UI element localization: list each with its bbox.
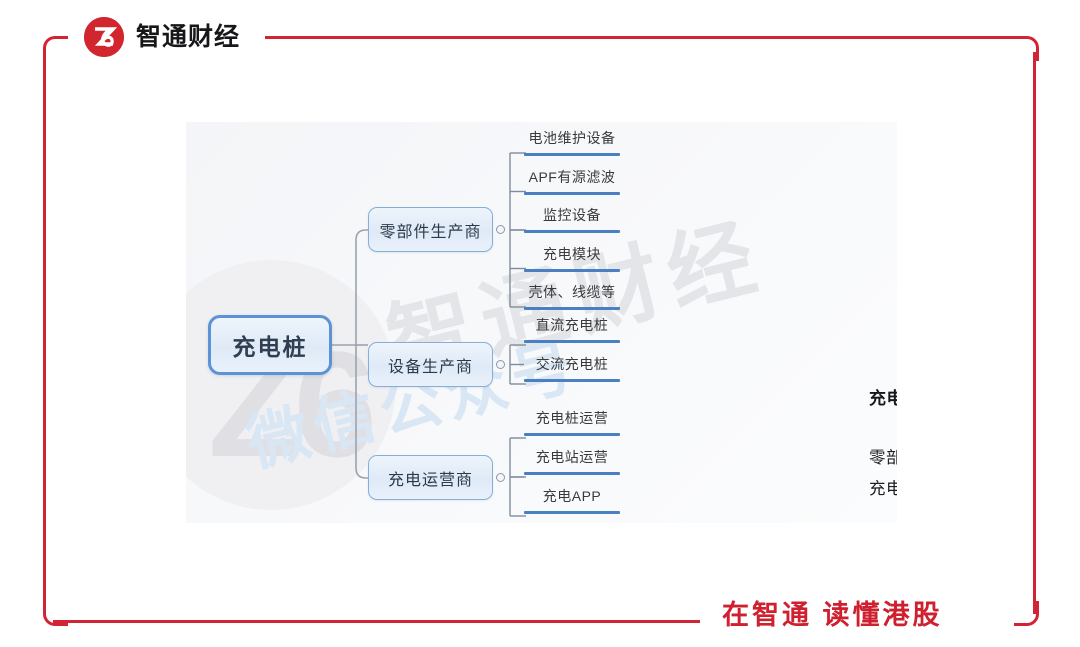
leaf-underline xyxy=(524,192,620,195)
branch-node-2[interactable]: 充电运营商 xyxy=(368,455,493,500)
branch-node-0-label: 零部件生产商 xyxy=(379,218,481,242)
frame-top-border xyxy=(265,36,1025,39)
leaf-item[interactable]: 交流充电桩 xyxy=(524,354,620,384)
leaf-item[interactable]: 充电站运营 xyxy=(524,447,620,477)
frame-corner-bottom-left xyxy=(43,601,68,626)
frame-left-border xyxy=(43,52,46,614)
leaf-item[interactable]: 壳体、线缆等 xyxy=(524,282,620,312)
brand-name: 智通财经 xyxy=(136,25,240,50)
leaf-label: 电池维护设备 xyxy=(524,128,620,148)
summary-caption: 充电桩产业链可以分为： 零部件生产商、设备生产商、 充电运营商共三大类。 xyxy=(869,384,897,505)
leaf-underline xyxy=(524,511,620,514)
leaf-label: 直流充电桩 xyxy=(524,315,620,335)
poster-canvas: 智通财经 在智通 读懂港股 Z6 智通财经 微信公众号 零部件生产商 xyxy=(0,0,1080,647)
branch-node-1[interactable]: 设备生产商 xyxy=(368,342,493,387)
summary-caption-line-1: 零部件生产商、设备生产商、 xyxy=(869,443,897,474)
leaf-label: 监控设备 xyxy=(524,205,620,225)
frame-bottom-border xyxy=(53,620,700,623)
branch-node-2-label: 充电运营商 xyxy=(388,466,473,490)
leaf-item[interactable]: 直流充电桩 xyxy=(524,315,620,345)
brand-header: 智通财经 xyxy=(84,17,240,57)
branch-0-joint[interactable] xyxy=(496,225,505,234)
branch-node-1-label: 设备生产商 xyxy=(388,353,473,377)
summary-caption-line-2: 充电运营商共三大类。 xyxy=(869,474,897,505)
leaf-item[interactable]: 监控设备 xyxy=(524,205,620,235)
leaf-item[interactable]: APF有源滤波 xyxy=(524,167,620,197)
leaf-label: 充电APP xyxy=(524,486,620,506)
branch-1-joint[interactable] xyxy=(496,360,505,369)
mindmap-image-panel: Z6 智通财经 微信公众号 零部件生产商 电池维护设备 xyxy=(186,122,897,523)
leaf-label: 充电模块 xyxy=(524,244,620,264)
leaf-underline xyxy=(524,472,620,475)
leaf-item[interactable]: 电池维护设备 xyxy=(524,128,620,158)
leaf-item[interactable]: 充电模块 xyxy=(524,244,620,274)
frame-corner-top-left xyxy=(43,36,68,61)
summary-caption-body: 零部件生产商、设备生产商、 充电运营商共三大类。 xyxy=(869,443,897,505)
leaf-underline xyxy=(524,153,620,156)
leaf-underline xyxy=(524,307,620,310)
leaf-label: 交流充电桩 xyxy=(524,354,620,374)
root-node-label: 充电桩 xyxy=(233,328,308,362)
frame-corner-top-right xyxy=(1014,36,1039,61)
root-node[interactable]: 充电桩 xyxy=(208,315,332,375)
leaf-label: 充电站运营 xyxy=(524,447,620,467)
frame-corner-bottom-right xyxy=(1014,601,1039,626)
leaf-label: 充电桩运营 xyxy=(524,408,620,428)
leaf-underline xyxy=(524,230,620,233)
leaf-underline xyxy=(524,379,620,382)
leaf-item[interactable]: 充电桩运营 xyxy=(524,408,620,438)
zhitong-circle-logo-icon xyxy=(84,17,124,57)
footer-slogan: 在智通 读懂港股 xyxy=(722,602,943,629)
leaf-underline xyxy=(524,269,620,272)
summary-caption-title: 充电桩产业链可以分为： xyxy=(869,384,897,409)
leaf-label: 壳体、线缆等 xyxy=(524,282,620,302)
leaf-label: APF有源滤波 xyxy=(524,167,620,187)
branch-2-joint[interactable] xyxy=(496,473,505,482)
branch-node-0[interactable]: 零部件生产商 xyxy=(368,207,493,252)
leaf-item[interactable]: 充电APP xyxy=(524,486,620,516)
frame-right-border xyxy=(1033,52,1036,614)
leaf-underline xyxy=(524,433,620,436)
leaf-underline xyxy=(524,340,620,343)
